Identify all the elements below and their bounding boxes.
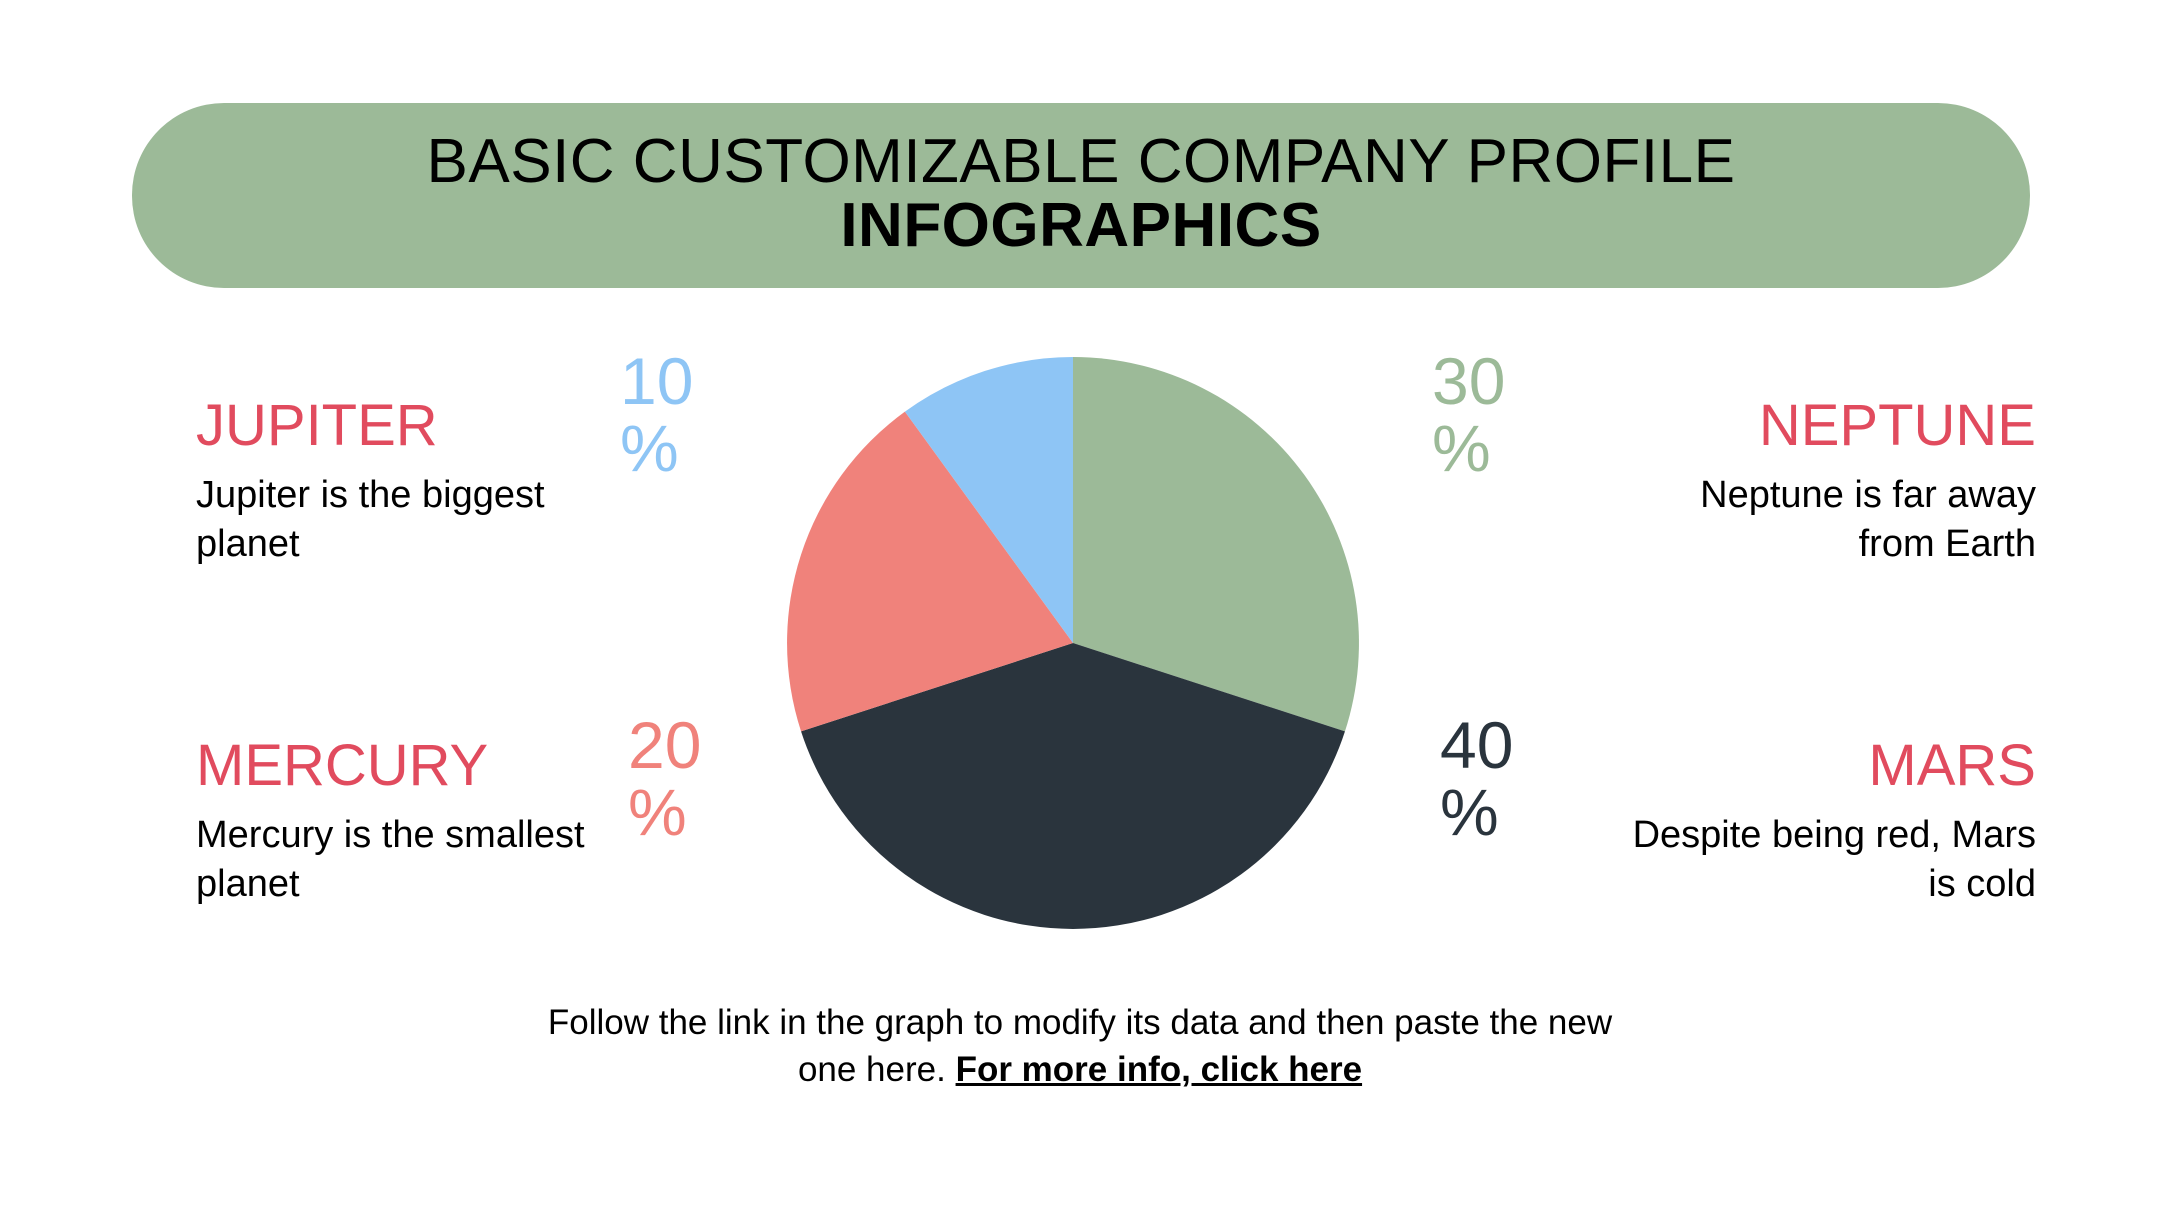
info-block-jupiter: JUPITER Jupiter is the biggest planet: [196, 396, 626, 568]
info-description-mercury: Mercury is the smallest planet: [196, 811, 626, 908]
info-title-mercury: MERCURY: [196, 736, 626, 797]
info-block-mercury: MERCURY Mercury is the smallest planet: [196, 736, 626, 908]
info-description-jupiter: Jupiter is the biggest planet: [196, 471, 626, 568]
caption-link[interactable]: For more info, click here: [956, 1050, 1363, 1089]
title-banner: BASIC CUSTOMIZABLE COMPANY PROFILE INFOG…: [132, 103, 2030, 288]
chart-caption: Follow the link in the graph to modify i…: [530, 1000, 1630, 1094]
percent-label-mercury: 20 %: [628, 712, 778, 847]
title-line-primary: BASIC CUSTOMIZABLE COMPANY PROFILE: [427, 130, 1736, 193]
percent-label-neptune: 30 %: [1432, 348, 1602, 483]
percent-label-mars: 40 %: [1440, 712, 1610, 847]
title-line-secondary: INFOGRAPHICS: [840, 194, 1321, 257]
info-title-jupiter: JUPITER: [196, 396, 626, 457]
pie-chart-svg: [772, 342, 1374, 944]
info-title-neptune: NEPTUNE: [1616, 396, 2036, 457]
info-description-mars: Despite being red, Mars is cold: [1616, 811, 2036, 908]
percent-label-jupiter: 10 %: [620, 348, 770, 483]
info-description-neptune: Neptune is far away from Earth: [1616, 471, 2036, 568]
info-title-mars: MARS: [1616, 736, 2036, 797]
info-block-mars: MARS Despite being red, Mars is cold: [1616, 736, 2036, 908]
pie-chart[interactable]: [772, 342, 1374, 944]
info-block-neptune: NEPTUNE Neptune is far away from Earth: [1616, 396, 2036, 568]
